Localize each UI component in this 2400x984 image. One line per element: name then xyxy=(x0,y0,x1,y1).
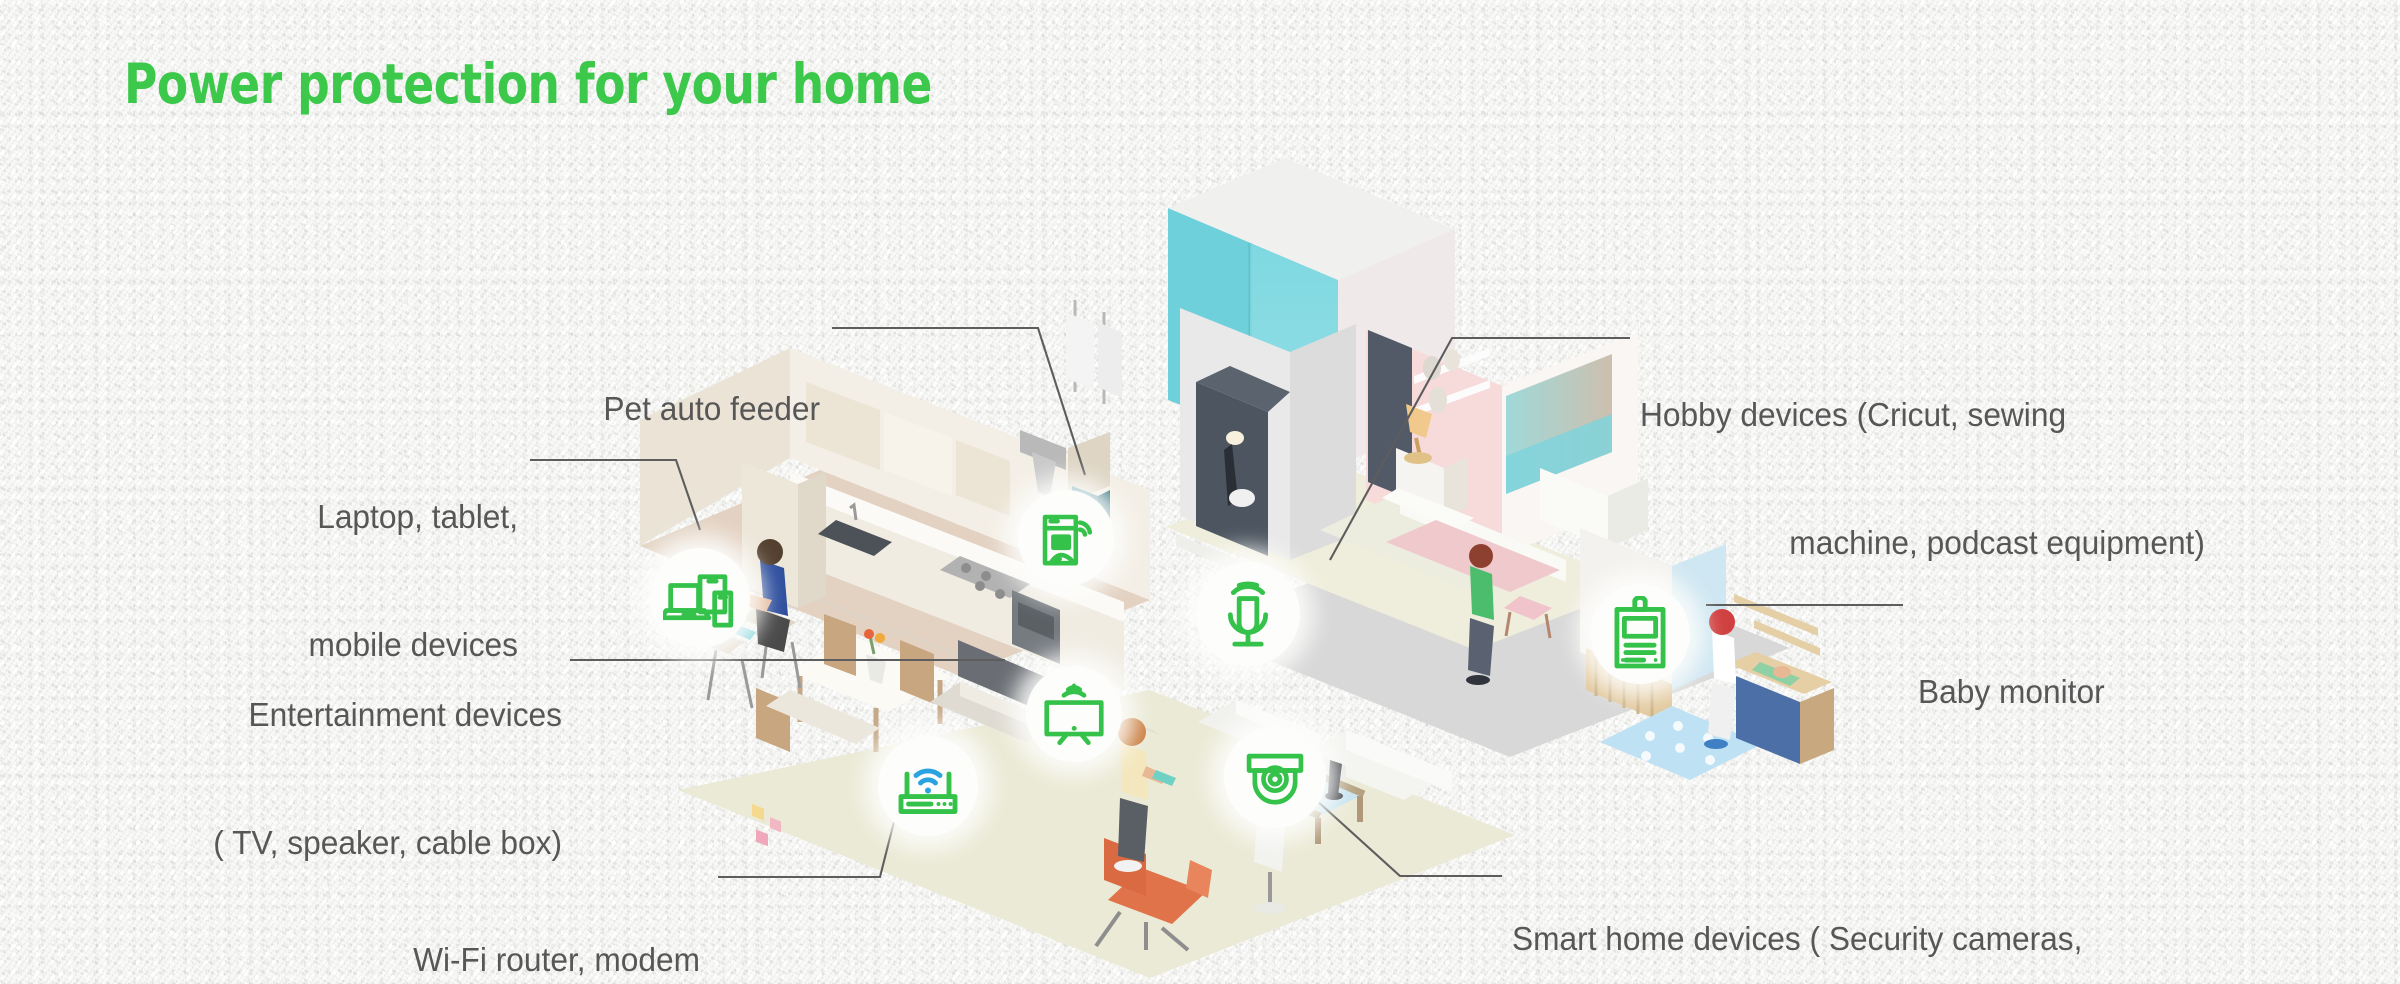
smart-tv-bubble[interactable] xyxy=(1026,666,1122,762)
security-camera-bubble[interactable] xyxy=(1224,726,1326,828)
infographic-stage: Power protection for your home xyxy=(0,0,2400,984)
voice-assistant-mic-icon xyxy=(1211,575,1285,653)
wifi-router-bubble[interactable] xyxy=(878,736,978,836)
callout-label-wifi-router-modem: Wi-Fi router, modem xyxy=(28,853,700,984)
laptop-tablet-phone-icon xyxy=(663,565,737,631)
laptop-tablet-phone-bubble[interactable] xyxy=(650,548,750,648)
voice-assistant-mic-bubble[interactable] xyxy=(1196,562,1300,666)
smart-tv-icon xyxy=(1038,681,1110,747)
callout-label-baby-monitor: Baby monitor xyxy=(1918,585,2379,799)
security-camera-icon xyxy=(1239,746,1311,808)
pet-feeder-icon xyxy=(1031,503,1101,573)
callout-label-smart-home-devices: Smart home devices ( Security cameras, T… xyxy=(1512,832,2364,984)
wifi-router-icon xyxy=(890,753,966,819)
pet-feeder-bubble[interactable] xyxy=(1018,490,1114,586)
